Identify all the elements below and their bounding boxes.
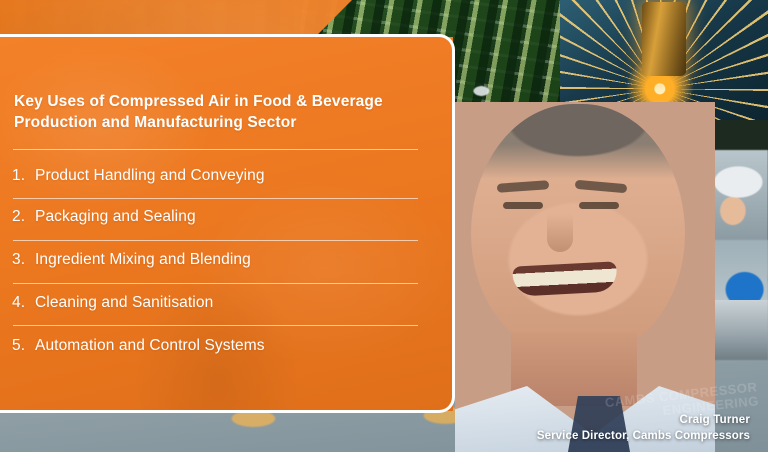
list-item-4: 4. Cleaning and Sanitisation xyxy=(12,293,432,313)
list-item-3: 3. Ingredient Mixing and Blending xyxy=(12,250,432,270)
list-item-number: 2. xyxy=(12,207,28,227)
divider-1 xyxy=(13,198,418,199)
speaker-caption: Craig Turner Service Director, Cambs Com… xyxy=(537,413,750,444)
divider-2 xyxy=(13,240,418,241)
speaker-role: Service Director, Cambs Compressors xyxy=(537,428,750,444)
card-content: Key Uses of Compressed Air in Food & Bev… xyxy=(0,34,455,413)
list-item-label: Cleaning and Sanitisation xyxy=(35,293,213,313)
list-item-2: 2. Packaging and Sealing xyxy=(12,207,432,227)
list-item-number: 3. xyxy=(12,250,28,270)
divider-4 xyxy=(13,325,418,326)
list-item-1: 1. Product Handling and Conveying xyxy=(12,166,432,186)
list-item-number: 5. xyxy=(12,336,28,356)
list-item-5: 5. Automation and Control Systems xyxy=(12,336,432,356)
list-item-label: Automation and Control Systems xyxy=(35,336,265,356)
laser-nozzle-icon xyxy=(642,2,686,76)
list-item-label: Ingredient Mixing and Blending xyxy=(35,250,251,270)
speaker-name: Craig Turner xyxy=(537,413,750,428)
infographic-slide: CAMBS COMPRESSOR ENGINEERING Key Uses of… xyxy=(0,0,768,452)
divider-3 xyxy=(13,283,418,284)
portrait-craig-turner xyxy=(455,96,715,452)
list-item-number: 4. xyxy=(12,293,28,313)
page-title: Key Uses of Compressed Air in Food & Bev… xyxy=(14,91,429,133)
list-item-number: 1. xyxy=(12,166,28,186)
portrait-eye-left xyxy=(503,202,543,209)
portrait-head xyxy=(471,104,685,354)
portrait-nose xyxy=(547,214,573,252)
list-item-label: Packaging and Sealing xyxy=(35,207,196,227)
list-item-label: Product Handling and Conveying xyxy=(35,166,265,186)
divider-0 xyxy=(13,149,418,150)
portrait-eye-right xyxy=(579,202,619,209)
